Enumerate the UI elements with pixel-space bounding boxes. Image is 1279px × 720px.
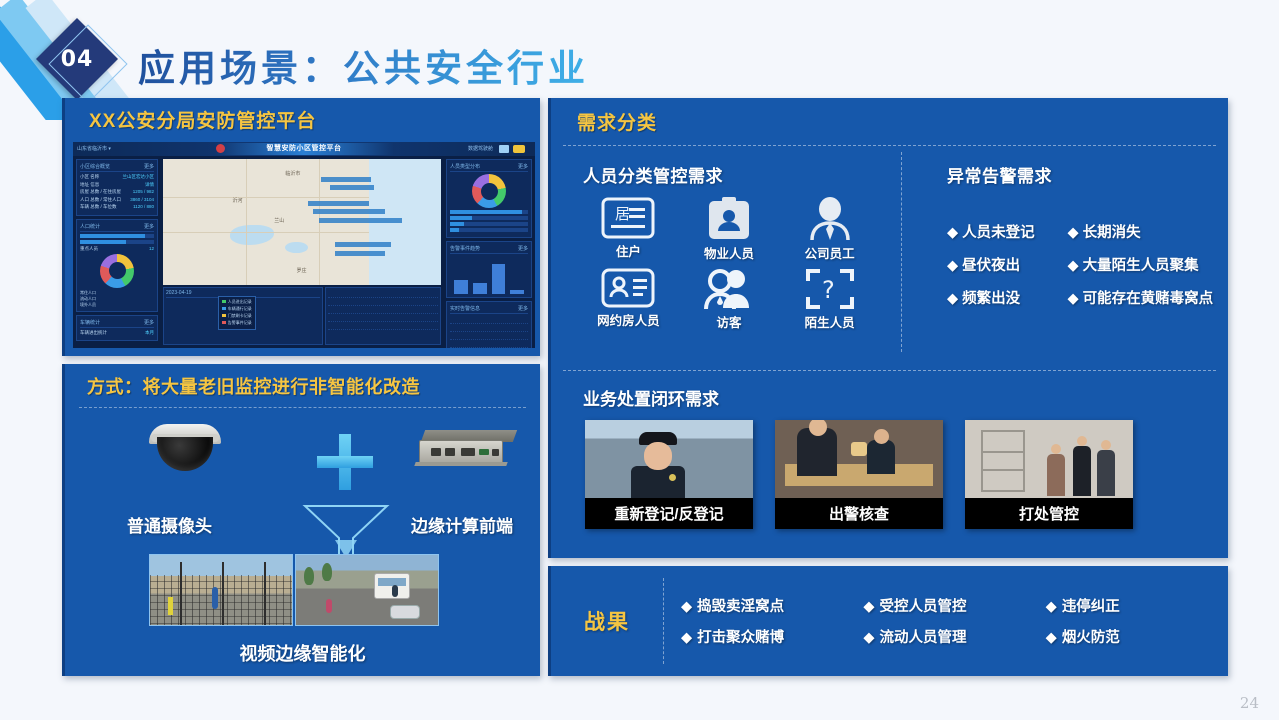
id-card-icon [581, 268, 676, 308]
diamond-bullet-icon: ◆ [1068, 225, 1079, 241]
person-type-stranger[interactable]: ? 陌生人员 [782, 268, 877, 331]
map-lake [230, 225, 274, 245]
dashboard-user-label: 数据驾驶舱 [468, 145, 493, 152]
person-type-rental[interactable]: 网约房人员 [581, 268, 676, 331]
requirements-panel-title: 需求分类 [551, 98, 1228, 135]
diamond-bullet-icon: ◆ [1068, 291, 1079, 307]
list-item: ◆人员未登记 [947, 221, 1050, 242]
dashboard-card-overview: 小区综合概览更多 小区 名称兰山区宏达小区 地址 信息详情 房屋 总数 / 在住… [76, 159, 158, 216]
dashboard-region-selector[interactable]: 山东省临沂市 ▾ [77, 145, 111, 152]
dashboard-card-person-type: 人员类型分布更多 [446, 159, 532, 238]
map-label: 罗庄 [296, 267, 306, 274]
platform-panel-title: XX公安分局安防管控平台 [65, 98, 540, 139]
biz-card[interactable]: 打处管控 [965, 420, 1133, 529]
person-type-employee[interactable]: 公司员工 [782, 197, 877, 262]
dashboard-left-column: 小区综合概览更多 小区 名称兰山区宏达小区 地址 信息详情 房屋 总数 / 在住… [73, 156, 161, 348]
diamond-bullet-icon: ◆ [947, 258, 958, 274]
list-item: ◆违停纠正 [1046, 595, 1228, 616]
officer-inspection-photo [775, 420, 943, 498]
diamond-bullet-icon: ◆ [863, 630, 874, 646]
table-row: 人口 总数 / 常住人口3860 / 3104 [80, 197, 154, 203]
divider [79, 407, 526, 408]
list-item: ◆打击聚众赌博 [681, 626, 863, 647]
timeline-legend: 人员进出记录 车辆通行记录 门禁刷卡记录 告警事件记录 [218, 296, 256, 330]
page-title: 应用场景：公共安全行业 [138, 38, 589, 92]
diamond-bullet-icon: ◆ [1068, 258, 1079, 274]
retrofit-panel: 方式：将大量老旧监控进行非智能化改造 普通摄像头 边缘计算前端 [62, 364, 540, 676]
diamond-bullet-icon: ◆ [681, 630, 692, 646]
progress-bar [450, 222, 528, 226]
dashboard-event-list [325, 287, 441, 345]
biz-card-caption: 重新登记/反登记 [585, 498, 753, 529]
clipboard-badge-icon [682, 197, 777, 241]
camera-label: 普通摄像头 [127, 512, 212, 537]
page-number: 24 [1240, 694, 1259, 712]
person-section-heading: 人员分类管控需求 [551, 146, 901, 187]
diamond-bullet-icon: ◆ [1046, 630, 1057, 646]
badge-number: 04 [48, 30, 106, 88]
map-road [246, 159, 247, 285]
funnel-arrow-icon [301, 504, 391, 560]
map-tooltip[interactable] [308, 201, 369, 206]
dashboard-screenshot[interactable]: 山东省临沂市 ▾ 智慧安防小区管控平台 数据驾驶舱 小区综合概览更多 小区 名称… [73, 142, 535, 348]
car-object [390, 605, 420, 619]
alarm-trend-bar-chart [450, 256, 528, 294]
alarm-requirements-section: 异常告警需求 ◆人员未登记 ◆长期消失 ◆昼伏夜出 ◆大量陌生人员聚集 ◆频繁出… [901, 146, 1228, 360]
dashboard-timeline-card: 2023-04-19 人员进出记录 车辆通行记录 门禁刷卡记录 告警事件记录 [163, 287, 323, 345]
list-item: ◆流动人员管理 [863, 626, 1045, 647]
person-type-resident[interactable]: 居 住户 [581, 197, 676, 262]
dashboard-card-realtime-alarm: 实时告警信息更多 [446, 301, 532, 348]
biz-card-caption: 出警核查 [775, 498, 943, 529]
person-classification-section: 人员分类管控需求 居 住户 物业人员 [551, 146, 901, 360]
results-label: 战果 [551, 606, 663, 636]
list-item: ◆昼伏夜出 [947, 254, 1050, 275]
dashboard-topbar: 山东省临沂市 ▾ 智慧安防小区管控平台 数据驾驶舱 [73, 142, 535, 156]
progress-bar [450, 210, 528, 214]
dashboard-avatar[interactable] [513, 145, 525, 153]
shop-control-photo [965, 420, 1133, 498]
progress-bar [80, 240, 154, 244]
requirements-panel: 需求分类 人员分类管控需求 居 住户 物业人员 [548, 98, 1228, 558]
map-view[interactable]: 临沂市 沂河 兰山 罗庄 [163, 159, 441, 285]
card-title: 小区综合概览 [80, 163, 110, 170]
list-item: ◆可能存在黄赌毒窝点 [1068, 287, 1229, 308]
map-tooltip[interactable] [330, 185, 374, 190]
table-row: 地址 信息详情 [80, 182, 154, 188]
list-item: ◆频繁出没 [947, 287, 1050, 308]
population-donut-chart [100, 254, 134, 288]
list-item: ◆烟火防范 [1046, 626, 1228, 647]
biz-card[interactable]: 重新登记/反登记 [585, 420, 753, 529]
street-traffic-photo [295, 554, 439, 626]
progress-bar [80, 234, 154, 238]
retrofit-panel-title: 方式：将大量老旧监控进行非智能化改造 [65, 364, 540, 399]
dashboard-card-population: 人口统计更多 重点人员12 常住人口 流动人口 境外人员 [76, 219, 158, 312]
diamond-bullet-icon: ◆ [863, 599, 874, 615]
vertical-divider [663, 578, 664, 664]
biz-card[interactable]: 出警核查 [775, 420, 943, 529]
two-persons-icon [682, 268, 777, 310]
progress-bar [450, 216, 528, 220]
map-road [163, 197, 369, 198]
biz-card-caption: 打处管控 [965, 498, 1133, 529]
person-type-donut-chart [472, 174, 506, 208]
retrofit-result-caption: 视频边缘智能化 [65, 640, 540, 666]
list-item: ◆大量陌生人员聚集 [1068, 254, 1229, 275]
map-label: 临沂市 [285, 170, 300, 177]
list-item: ◆捣毁卖淫窝点 [681, 595, 863, 616]
map-lake-2 [285, 242, 307, 253]
svg-text:居: 居 [615, 205, 630, 223]
biz-section-heading: 业务处置闭环需求 [551, 371, 1228, 410]
map-label: 沂河 [233, 197, 243, 204]
map-tooltip[interactable] [335, 242, 391, 247]
person-type-label: 访客 [682, 312, 777, 331]
resident-card-icon: 居 [581, 197, 676, 239]
table-row: 房屋 总数 / 在住房屋1205 / 982 [80, 189, 154, 195]
table-row: 车辆进出统计本月 [80, 330, 154, 336]
unknown-face-scan-icon: ? [782, 268, 877, 310]
platform-panel: XX公安分局安防管控平台 山东省临沂市 ▾ 智慧安防小区管控平台 数据驾驶舱 小… [62, 98, 540, 356]
map-tooltip[interactable] [313, 209, 385, 214]
table-row: 重点人员12 [80, 246, 154, 252]
results-panel: 战果 ◆捣毁卖淫窝点 ◆受控人员管控 ◆违停纠正 ◆打击聚众赌博 ◆流动人员管理… [548, 566, 1228, 676]
policeman-photo [585, 420, 753, 498]
progress-bar [450, 228, 528, 232]
fence-climbing-photo [149, 554, 293, 626]
person-type-visitor[interactable]: 访客 [682, 268, 777, 331]
list-item: ◆受控人员管控 [863, 595, 1045, 616]
edge-compute-box-icon [419, 430, 515, 472]
dashboard-right-column: 人员类型分布更多 告警事件趋势更多 实时告警信息更多 [443, 156, 535, 348]
person-type-label: 网约房人员 [581, 310, 676, 329]
diamond-bullet-icon: ◆ [947, 225, 958, 241]
list-item: ◆长期消失 [1068, 221, 1229, 242]
diamond-bullet-icon: ◆ [1046, 599, 1057, 615]
dashboard-center-column: 临沂市 沂河 兰山 罗庄 2023-04-19 人 [161, 156, 443, 348]
person-type-label: 公司员工 [782, 243, 877, 262]
map-tooltip[interactable] [335, 251, 385, 256]
map-road [163, 232, 369, 233]
map-tooltip[interactable] [319, 218, 402, 223]
map-label: 兰山 [274, 217, 284, 224]
dashboard-brand-title: 智慧安防小区管控平台 [214, 143, 394, 155]
svg-text:?: ? [822, 276, 835, 304]
section-badge: 04 [44, 26, 124, 106]
diamond-bullet-icon: ◆ [681, 599, 692, 615]
table-row: 小区 名称兰山区宏达小区 [80, 174, 154, 180]
dashboard-card-vehicle: 车辆统计更多 车辆进出统计本月 [76, 315, 158, 342]
person-type-label: 物业人员 [682, 243, 777, 262]
person-type-label: 陌生人员 [782, 312, 877, 331]
dome-camera-icon [149, 424, 221, 472]
dashboard-card-alarm-trend: 告警事件趋势更多 [446, 241, 532, 298]
alarm-section-heading: 异常告警需求 [901, 146, 1228, 187]
edge-device-label: 边缘计算前端 [411, 512, 513, 537]
dashboard-window-icon[interactable] [499, 145, 509, 153]
table-row: 车辆 总数 / 车位数1120 / 880 [80, 204, 154, 210]
person-type-property-staff[interactable]: 物业人员 [682, 197, 777, 262]
map-tooltip[interactable] [321, 177, 371, 182]
diamond-bullet-icon: ◆ [947, 291, 958, 307]
employee-suit-icon [782, 197, 877, 241]
plus-icon [317, 434, 373, 490]
person-type-label: 住户 [581, 241, 676, 260]
